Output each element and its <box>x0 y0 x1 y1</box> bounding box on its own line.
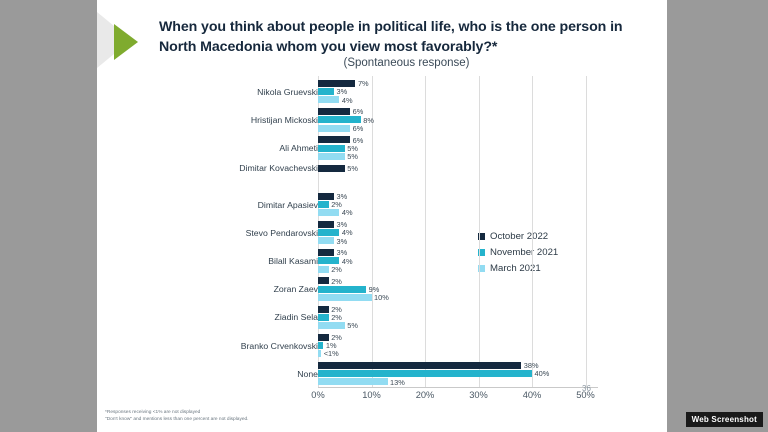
bar-value-label: 8% <box>363 117 374 124</box>
bar-2 <box>318 209 339 216</box>
legend-label: March 2021 <box>490 263 541 274</box>
bar-value-label: 5% <box>347 153 358 160</box>
chart-footnotes: *Responses receiving <1% are not display… <box>105 409 249 424</box>
bar-0 <box>318 334 329 341</box>
category-label: Ali Ahmeti <box>279 144 318 153</box>
category-label: Dimitar Apasiev <box>258 201 318 210</box>
bar-value-label: 6% <box>353 108 364 115</box>
chart-plot-area: October 2022November 2021March 2021 0%10… <box>97 76 667 396</box>
bar-2 <box>318 237 334 244</box>
bar-value-label: 3% <box>337 88 348 95</box>
bar-2 <box>318 378 388 385</box>
category-label: Branko Crvenkovski <box>241 342 318 351</box>
bar-value-label: 2% <box>331 314 342 321</box>
gridline <box>479 76 480 387</box>
bar-value-label: 4% <box>342 229 353 236</box>
category-label: Ziadin Sela <box>275 313 318 322</box>
bar-2 <box>318 266 329 273</box>
bar-0 <box>318 362 521 369</box>
bar-0 <box>318 136 350 143</box>
bar-value-label: 40% <box>535 370 550 377</box>
bar-value-label: <1% <box>324 350 339 357</box>
bar-2 <box>318 350 321 357</box>
bar-1 <box>318 286 366 293</box>
category-label: Zoran Zaev <box>274 285 318 294</box>
bar-value-label: 2% <box>331 278 342 285</box>
page-number: 36 <box>582 384 591 393</box>
bar-0 <box>318 108 350 115</box>
bar-0 <box>318 221 334 228</box>
x-axis-tick-label: 0% <box>311 390 324 400</box>
gridline <box>586 76 587 387</box>
chart-subtitle: (Spontaneous response) <box>159 57 654 69</box>
category-label: None <box>297 370 318 379</box>
bar-value-label: 5% <box>347 165 358 172</box>
bar-1 <box>318 370 532 377</box>
bar-1 <box>318 342 323 349</box>
bar-0 <box>318 80 355 87</box>
play-triangle-icon <box>114 24 138 60</box>
bar-1 <box>318 88 334 95</box>
bar-value-label: 4% <box>342 97 353 104</box>
bar-value-label: 13% <box>390 379 405 386</box>
x-axis-tick-label: 30% <box>469 390 488 400</box>
screenshot-root: When you think about people in political… <box>0 0 768 432</box>
bar-value-label: 2% <box>331 266 342 273</box>
category-label: Bilall Kasami <box>268 257 318 266</box>
bar-value-label: 7% <box>358 80 369 87</box>
legend-label: November 2021 <box>490 247 558 258</box>
bar-0 <box>318 306 329 313</box>
bar-value-label: 2% <box>331 201 342 208</box>
bar-2 <box>318 96 339 103</box>
legend-item[interactable]: October 2022 <box>478 231 558 242</box>
x-axis-tick-label: 40% <box>523 390 542 400</box>
watermark-badge: Web Screenshot <box>686 412 763 427</box>
bar-1 <box>318 201 329 208</box>
category-label: Nikola Gruevski <box>257 88 318 97</box>
bar-value-label: 5% <box>347 322 358 329</box>
bar-1 <box>318 229 339 236</box>
category-label: Stevo Pendarovski <box>246 229 318 238</box>
bar-value-label: 6% <box>353 137 364 144</box>
gridline <box>425 76 426 387</box>
category-label: Dimitar Kovachevski <box>239 164 318 173</box>
bar-1 <box>318 145 345 152</box>
legend-item[interactable]: March 2021 <box>478 263 558 274</box>
legend-label: October 2022 <box>490 231 548 242</box>
bar-value-label: 4% <box>342 209 353 216</box>
bar-1 <box>318 116 361 123</box>
slide-canvas: When you think about people in political… <box>97 0 667 432</box>
category-label: Hristijan Mickoski <box>251 116 318 125</box>
chart-title: When you think about people in political… <box>159 18 654 57</box>
footnote-line-2: "Don't know" and mentions less than one … <box>105 416 249 423</box>
bar-2 <box>318 294 372 301</box>
x-axis-tick-label: 20% <box>416 390 435 400</box>
bar-0 <box>318 277 329 284</box>
bar-1 <box>318 257 339 264</box>
bar-0 <box>318 193 334 200</box>
bar-2 <box>318 125 350 132</box>
bar-value-label: 4% <box>342 258 353 265</box>
bar-2 <box>318 322 345 329</box>
x-axis-line <box>318 387 598 388</box>
bar-1 <box>318 314 329 321</box>
bar-2 <box>318 153 345 160</box>
bar-value-label: 3% <box>337 249 348 256</box>
x-axis-tick-label: 10% <box>362 390 381 400</box>
bar-value-label: 6% <box>353 125 364 132</box>
footnote-line-1: *Responses receiving <1% are not display… <box>105 409 249 416</box>
bar-value-label: 10% <box>374 294 389 301</box>
bar-0 <box>318 165 345 172</box>
bar-0 <box>318 249 334 256</box>
legend-item[interactable]: November 2021 <box>478 247 558 258</box>
bar-value-label: 3% <box>337 238 348 245</box>
gridline <box>532 76 533 387</box>
chart-legend: October 2022November 2021March 2021 <box>478 231 558 279</box>
